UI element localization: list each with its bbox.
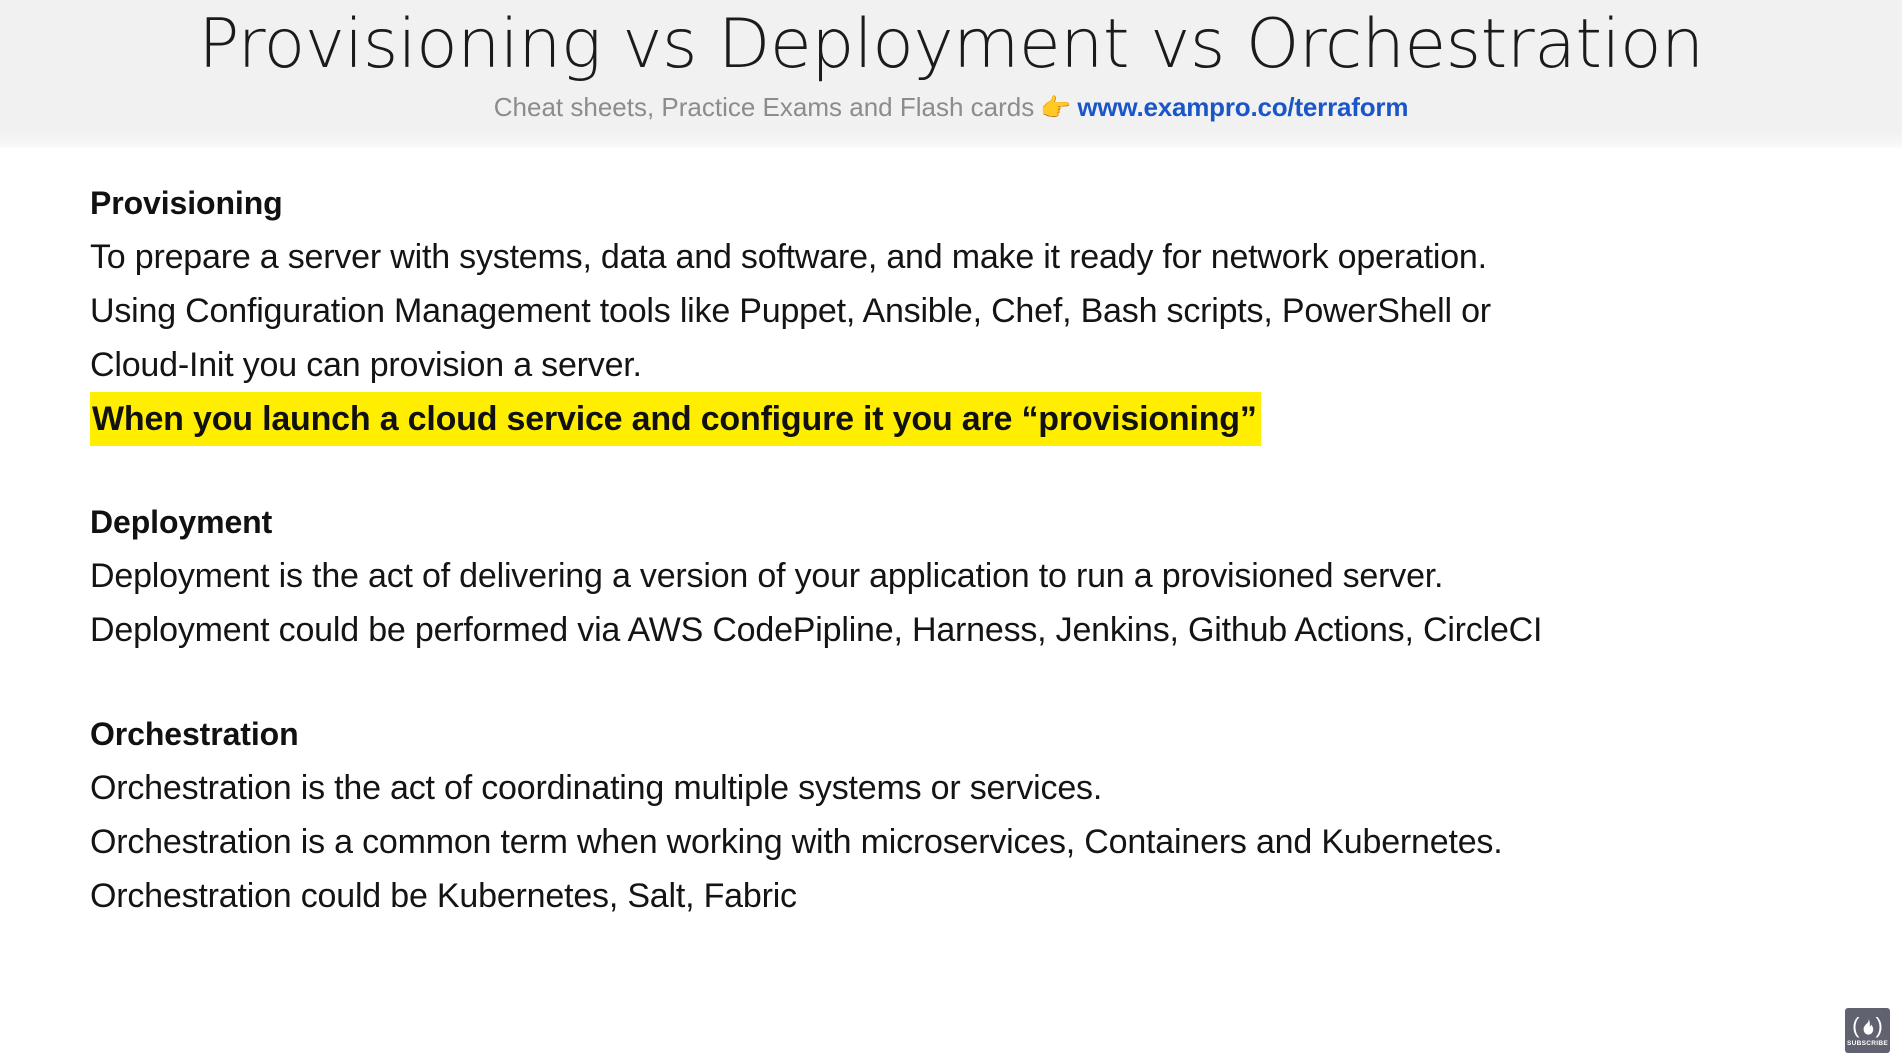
slide-header: Provisioning vs Deployment vs Orchestrat… xyxy=(0,0,1902,148)
subscribe-label: SUBSCRIBE xyxy=(1847,1040,1888,1048)
body-line: Deployment is the act of delivering a ve… xyxy=(90,549,1850,603)
body-line: Orchestration could be Kubernetes, Salt,… xyxy=(90,869,1850,923)
body-line: Using Configuration Management tools lik… xyxy=(90,284,1850,338)
body-line: Orchestration is a common term when work… xyxy=(90,815,1850,869)
body-line: Cloud-Init you can provision a server. xyxy=(90,338,1850,392)
flame-icon xyxy=(1861,1018,1875,1035)
highlight-row: When you launch a cloud service and conf… xyxy=(90,392,1850,453)
body-line: Deployment could be performed via AWS Co… xyxy=(90,603,1850,657)
section-provisioning: Provisioning To prepare a server with sy… xyxy=(90,176,1850,453)
highlighted-callout-provisioning: When you launch a cloud service and conf… xyxy=(90,392,1261,446)
section-deployment: Deployment Deployment is the act of deli… xyxy=(90,495,1850,657)
section-heading-deployment: Deployment xyxy=(90,495,1850,549)
subtitle-text: Cheat sheets, Practice Exams and Flash c… xyxy=(494,90,1034,124)
section-divider xyxy=(90,453,1850,495)
body-line: To prepare a server with systems, data a… xyxy=(90,230,1850,284)
section-divider xyxy=(90,657,1850,707)
section-heading-orchestration: Orchestration xyxy=(90,707,1850,761)
page-title: Provisioning vs Deployment vs Orchestrat… xyxy=(0,0,1902,88)
body-line: Orchestration is the act of coordinating… xyxy=(90,761,1850,815)
pointing-right-hand-icon: 👉 xyxy=(1040,96,1071,121)
right-paren-icon: ) xyxy=(1876,1015,1883,1037)
slide-body: Provisioning To prepare a server with sy… xyxy=(90,176,1850,923)
exampro-terraform-link[interactable]: www.exampro.co/terraform xyxy=(1077,90,1408,124)
section-heading-provisioning: Provisioning xyxy=(90,176,1850,230)
subscribe-watermark-button[interactable]: ( ) SUBSCRIBE xyxy=(1845,1008,1890,1053)
left-paren-icon: ( xyxy=(1852,1015,1859,1037)
section-orchestration: Orchestration Orchestration is the act o… xyxy=(90,707,1850,923)
channel-logo: ( ) xyxy=(1852,1013,1883,1039)
slide-subtitle: Cheat sheets, Practice Exams and Flash c… xyxy=(0,90,1902,124)
